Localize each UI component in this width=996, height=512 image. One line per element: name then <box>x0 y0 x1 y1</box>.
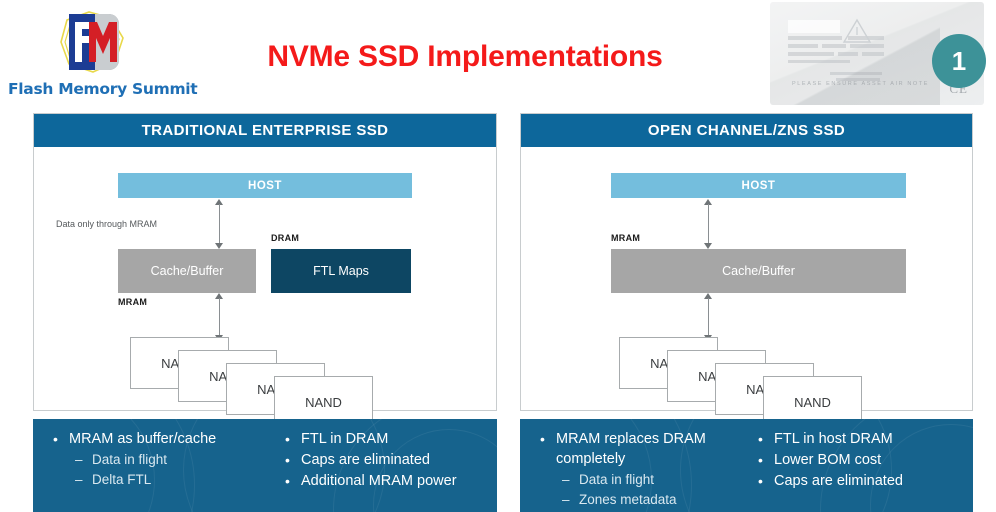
bullets-traditional: MRAM as buffer/cache Data in flight Delt… <box>33 419 497 512</box>
host-block-open-channel: HOST <box>611 173 906 198</box>
logo-wordmark: Flash Memory Summit <box>8 80 183 98</box>
panel-open-channel-zns-ssd: OPEN CHANNEL/ZNS SSD HOST MRAM Cache/Buf… <box>520 113 973 411</box>
cache-buffer-block-open-channel: Cache/Buffer <box>611 249 906 293</box>
nand-stack-open-channel: NAND NAND NAND NAND <box>619 337 889 417</box>
bullet-item: MRAM replaces DRAM completely <box>534 429 752 469</box>
bullet-sub-item: Delta FTL <box>47 470 279 489</box>
panel-traditional-enterprise-ssd: TRADITIONAL ENTERPRISE SSD HOST Data onl… <box>33 113 497 411</box>
arrow-host-to-cache-open-channel <box>703 199 714 249</box>
bullet-item: FTL in host DRAM <box>752 429 967 449</box>
bullet-sub-item: Zones metadata <box>534 490 752 509</box>
note-data-only-through-mram: Data only through MRAM <box>56 219 157 229</box>
cache-buffer-block-traditional: Cache/Buffer <box>118 249 256 293</box>
bullet-item: Caps are eliminated <box>752 471 967 491</box>
bullets-open-channel: MRAM replaces DRAM completely Data in fl… <box>520 419 973 512</box>
bullets-column-2: FTL in host DRAM Lower BOM cost Caps are… <box>752 429 967 512</box>
bullet-item: Additional MRAM power <box>279 471 494 491</box>
panel-title-traditional: TRADITIONAL ENTERPRISE SSD <box>34 114 496 147</box>
arrow-host-to-cache-traditional <box>214 199 225 249</box>
diagram-open-channel: HOST MRAM Cache/Buffer NAND NAND NAND NA… <box>521 147 972 412</box>
ssd-photo-caption: PLEASE ENSURE ASSET AIR NOTE <box>792 81 929 87</box>
bullet-item: FTL in DRAM <box>279 429 494 449</box>
bullet-item: Caps are eliminated <box>279 450 494 470</box>
tag-dram-traditional: DRAM <box>271 233 299 243</box>
ftl-maps-block: FTL Maps <box>271 249 411 293</box>
slide-header: Flash Memory Summit NVMe SSD Implementat… <box>0 0 996 108</box>
tag-mram-open-channel: MRAM <box>611 233 640 243</box>
bullets-column-2: FTL in DRAM Caps are eliminated Addition… <box>279 429 494 512</box>
warning-triangle-icon <box>842 18 872 44</box>
host-block-traditional: HOST <box>118 173 412 198</box>
bullets-column-1: MRAM replaces DRAM completely Data in fl… <box>534 429 752 512</box>
bullet-item: Lower BOM cost <box>752 450 967 470</box>
panel-title-open-channel: OPEN CHANNEL/ZNS SSD <box>521 114 972 147</box>
slide-number-badge: 1 <box>932 34 986 88</box>
arrow-cache-to-nand-traditional <box>214 293 225 341</box>
flash-memory-summit-logo: Flash Memory Summit <box>8 4 183 104</box>
tag-mram-traditional: MRAM <box>118 297 147 307</box>
nand-stack-traditional: NAND NAND NAND NAND <box>130 337 400 417</box>
bullets-column-1: MRAM as buffer/cache Data in flight Delt… <box>47 429 279 512</box>
fms-logo-icon <box>53 6 131 78</box>
bullet-sub-item: Data in flight <box>534 470 752 489</box>
bullet-item: MRAM as buffer/cache <box>47 429 279 449</box>
diagram-traditional: HOST Data only through MRAM Cache/Buffer… <box>34 147 496 412</box>
page-title: NVMe SSD Implementations <box>195 40 735 74</box>
arrow-cache-to-nand-open-channel <box>703 293 714 341</box>
bullet-sub-item: Data in flight <box>47 450 279 469</box>
